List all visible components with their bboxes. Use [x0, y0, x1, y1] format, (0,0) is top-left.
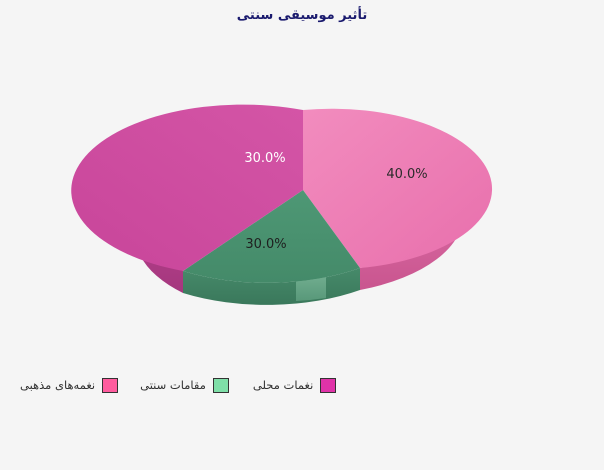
legend-label-local-tunes: نغمات محلی [253, 378, 320, 392]
legend-swatch-icon [102, 378, 118, 393]
chart-legend: نغمه‌های مذهبی مقامات سنتی نغمات محلی [0, 370, 604, 400]
pie-chart-figure: تأثیر موسیقی سنتی [0, 0, 604, 470]
chart-title: تأثیر موسیقی سنتی [0, 8, 604, 23]
pie-svg: 40.0% 30.0% 30.0% [0, 40, 604, 360]
legend-label-religious-melodies: نغمه‌های مذهبی [20, 378, 102, 392]
slice-label-pink: 40.0% [386, 167, 427, 182]
pie-plot-area: 40.0% 30.0% 30.0% [0, 40, 604, 360]
legend-swatch-icon [320, 378, 336, 393]
legend-label-traditional-maqams: مقامات سنتی [140, 378, 213, 392]
slice-label-magenta: 30.0% [244, 151, 285, 166]
legend-swatch-icon [213, 378, 229, 393]
legend-item-religious-melodies[interactable]: نغمه‌های مذهبی [20, 370, 118, 400]
slice-label-green: 30.0% [245, 237, 286, 252]
legend-item-traditional-maqams[interactable]: مقامات سنتی [140, 370, 229, 400]
legend-item-local-tunes[interactable]: نغمات محلی [253, 370, 336, 400]
